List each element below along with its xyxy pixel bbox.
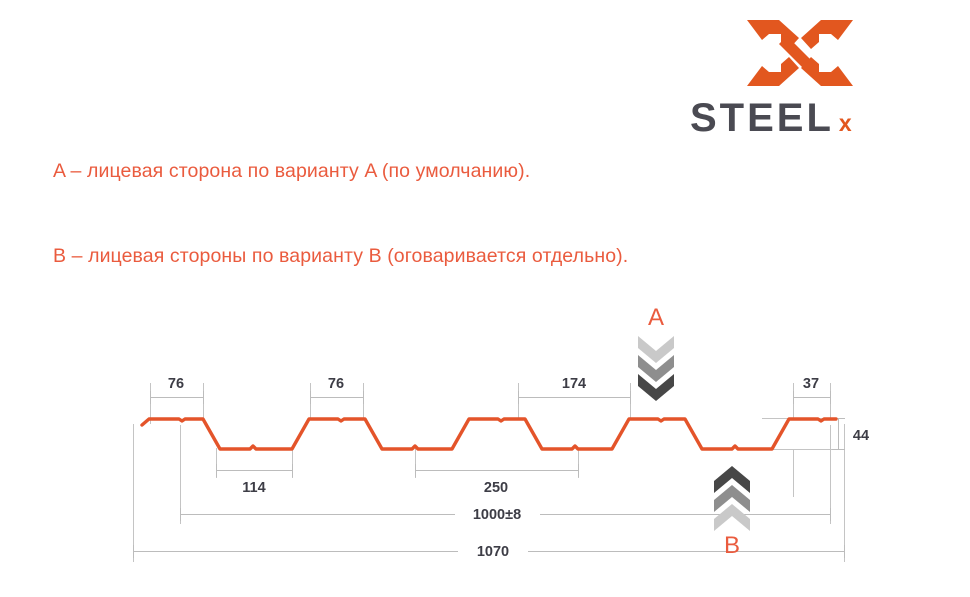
face-b-chevrons-up-icon (714, 466, 750, 532)
dimension-label-250: 250 (484, 480, 508, 496)
profile-technical-drawing: 1000±8 1070 76 76 174 37 114 250 44 (0, 0, 970, 597)
face-a-letter: A (633, 306, 679, 330)
dimension-label-174: 174 (562, 376, 586, 392)
dimension-label-44: 44 (853, 428, 869, 444)
profile-section-outline (142, 419, 836, 449)
face-b-letter: B (709, 534, 755, 558)
dimension-label-total-width: 1070 (477, 544, 509, 560)
dimension-label-37: 37 (803, 376, 819, 392)
face-a-arrow: A (633, 306, 679, 401)
dimension-label-effective-width: 1000±8 (473, 507, 521, 523)
dimension-label-114: 114 (242, 480, 265, 496)
face-b-arrow: B (709, 466, 755, 558)
face-a-chevrons-down-icon (638, 336, 674, 402)
dimension-label-76-second: 76 (328, 376, 344, 392)
dimension-label-76-left: 76 (168, 376, 184, 392)
